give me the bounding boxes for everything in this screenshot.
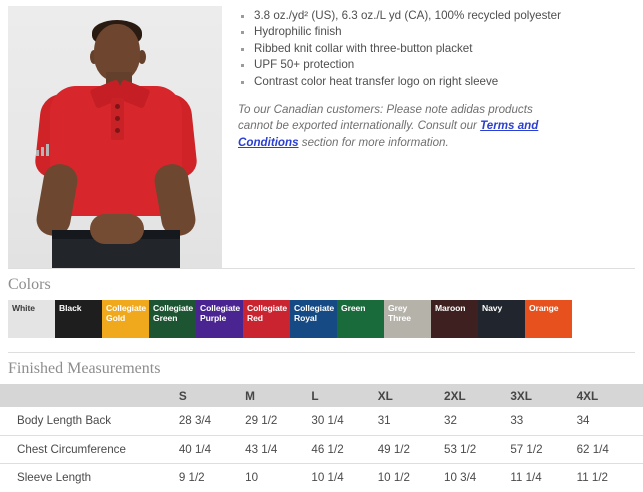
table-header-cell: 4XL xyxy=(577,384,643,407)
product-specs: 3.8 oz./yd² (US), 6.3 oz./L yd (CA), 100… xyxy=(230,0,643,163)
finished-measurements-table: S M L XL 2XL 3XL 4XL Body Length Back 28… xyxy=(0,384,643,491)
color-swatch-label: Green xyxy=(341,303,382,313)
product-photo[interactable] xyxy=(8,6,222,268)
table-cell: 49 1/2 xyxy=(378,435,444,463)
color-swatch-label: Collegiate Gold xyxy=(106,303,147,323)
feature-item: Ribbed knit collar with three-button pla… xyxy=(238,41,635,57)
table-cell: 10 1/4 xyxy=(311,463,377,491)
colors-section-title: Colors xyxy=(0,269,643,300)
table-header-cell: L xyxy=(311,384,377,407)
table-row: Chest Circumference 40 1/4 43 1/4 46 1/2… xyxy=(0,435,643,463)
table-header-row: S M L XL 2XL 3XL 4XL xyxy=(0,384,643,407)
table-header-cell: M xyxy=(245,384,311,407)
color-swatch-label: Grey Three xyxy=(388,303,429,323)
color-swatch[interactable]: Maroon xyxy=(431,300,478,338)
model-hands xyxy=(90,214,144,244)
feature-item: 3.8 oz./yd² (US), 6.3 oz./L yd (CA), 100… xyxy=(238,8,635,24)
table-row: Body Length Back 28 3/4 29 1/2 30 1/4 31… xyxy=(0,407,643,435)
table-cell: 10 xyxy=(245,463,311,491)
feature-item: UPF 50+ protection xyxy=(238,57,635,73)
polo-button-top xyxy=(115,104,120,109)
color-swatch-label: Collegiate Red xyxy=(247,303,288,323)
table-cell: 40 1/4 xyxy=(179,435,245,463)
table-row-label: Chest Circumference xyxy=(0,435,179,463)
table-cell: 34 xyxy=(577,407,643,435)
table-header-cell: 3XL xyxy=(510,384,576,407)
table-cell: 28 3/4 xyxy=(179,407,245,435)
color-swatch[interactable]: White xyxy=(8,300,55,338)
color-swatch[interactable]: Orange xyxy=(525,300,572,338)
color-swatch[interactable]: Grey Three xyxy=(384,300,431,338)
color-swatch[interactable]: Collegiate Red xyxy=(243,300,290,338)
color-swatch[interactable]: Navy xyxy=(478,300,525,338)
color-swatch-label: Collegiate Royal xyxy=(294,303,335,323)
product-detail-page: 3.8 oz./yd² (US), 6.3 oz./L yd (CA), 100… xyxy=(0,0,643,492)
polo-button-bottom xyxy=(115,128,120,133)
table-cell: 43 1/4 xyxy=(245,435,311,463)
color-swatch-label: Navy xyxy=(482,303,523,313)
feature-item: Hydrophilic finish xyxy=(238,24,635,40)
table-header-cell: S xyxy=(179,384,245,407)
table-cell: 57 1/2 xyxy=(510,435,576,463)
color-swatch[interactable]: Collegiate Purple xyxy=(196,300,243,338)
table-row-label: Sleeve Length xyxy=(0,463,179,491)
table-cell: 29 1/2 xyxy=(245,407,311,435)
color-swatch-label: Collegiate Green xyxy=(153,303,194,323)
color-swatch-label: Orange xyxy=(529,303,570,313)
measurements-section-title: Finished Measurements xyxy=(0,353,643,384)
table-cell: 10 3/4 xyxy=(444,463,510,491)
product-overview: 3.8 oz./yd² (US), 6.3 oz./L yd (CA), 100… xyxy=(0,0,643,268)
table-header-cell xyxy=(0,384,179,407)
table-cell: 53 1/2 xyxy=(444,435,510,463)
table-cell: 11 1/4 xyxy=(510,463,576,491)
table-cell: 30 1/4 xyxy=(311,407,377,435)
table-cell: 32 xyxy=(444,407,510,435)
polo-button-middle xyxy=(115,116,120,121)
table-cell: 31 xyxy=(378,407,444,435)
color-swatch-list: White Black Collegiate Gold Collegiate G… xyxy=(8,300,643,338)
table-cell: 33 xyxy=(510,407,576,435)
table-row-label: Body Length Back xyxy=(0,407,179,435)
table-cell: 62 1/4 xyxy=(577,435,643,463)
table-row: Sleeve Length 9 1/2 10 10 1/4 10 1/2 10 … xyxy=(0,463,643,491)
adidas-logo-icon xyxy=(36,144,50,156)
table-cell: 46 1/2 xyxy=(311,435,377,463)
table-header-cell: XL xyxy=(378,384,444,407)
color-swatch[interactable]: Collegiate Gold xyxy=(102,300,149,338)
color-swatch[interactable]: Collegiate Royal xyxy=(290,300,337,338)
color-swatch-label: Maroon xyxy=(435,303,476,313)
product-image-container[interactable] xyxy=(0,0,230,268)
table-cell: 9 1/2 xyxy=(179,463,245,491)
color-swatch-label: White xyxy=(12,303,53,313)
table-cell: 11 1/2 xyxy=(577,463,643,491)
color-swatch-label: Collegiate Purple xyxy=(200,303,241,323)
color-swatch[interactable]: Collegiate Green xyxy=(149,300,196,338)
note-text-after: section for more information. xyxy=(299,136,449,149)
color-swatch[interactable]: Green xyxy=(337,300,384,338)
feature-item: Contrast color heat transfer logo on rig… xyxy=(238,74,635,90)
canadian-customers-note: To our Canadian customers: Please note a… xyxy=(238,102,568,151)
table-cell: 10 1/2 xyxy=(378,463,444,491)
feature-list: 3.8 oz./yd² (US), 6.3 oz./L yd (CA), 100… xyxy=(238,8,635,90)
table-header-cell: 2XL xyxy=(444,384,510,407)
color-swatch-label: Black xyxy=(59,303,100,313)
color-swatch[interactable]: Black xyxy=(55,300,102,338)
